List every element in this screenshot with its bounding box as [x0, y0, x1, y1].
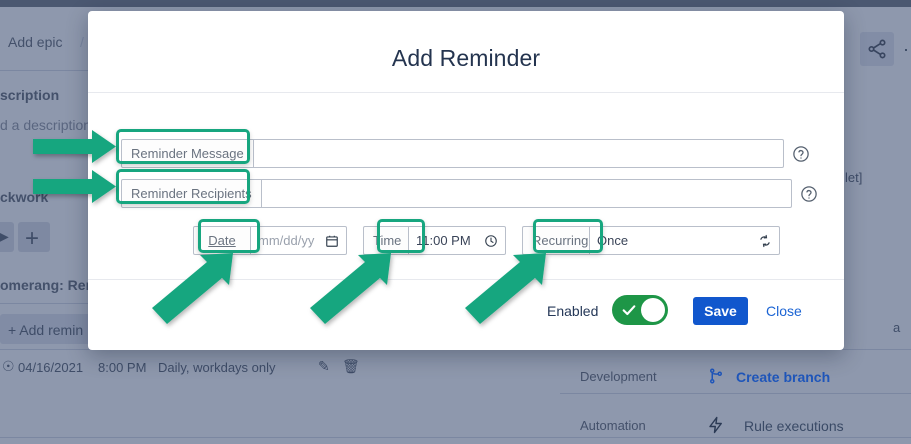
calendar-icon[interactable] [325, 234, 339, 248]
time-value: 11:00 PM [416, 233, 471, 248]
dialog-footer: Enabled Save Close [88, 279, 844, 350]
label-recurring: Recurring [522, 226, 590, 255]
check-icon [621, 302, 637, 318]
field-row-reminder-message: Reminder Message [121, 139, 810, 168]
time-input[interactable]: 11:00 PM [409, 226, 506, 255]
clock-icon[interactable] [484, 234, 498, 248]
stray-text-fragment: a [893, 320, 900, 335]
add-reminder-dialog: Add Reminder Reminder Message Reminder R… [88, 11, 844, 350]
detail-link-create-branch[interactable]: Create branch [736, 369, 830, 385]
time-field-group: Time 11:00 PM [363, 226, 506, 255]
detail-label-development: Development [580, 369, 657, 384]
repeat-icon[interactable] [758, 234, 772, 248]
date-field-group: Date mm/dd/yy [193, 226, 347, 255]
date-input[interactable]: mm/dd/yy [251, 226, 347, 255]
dialog-title: Add Reminder [88, 45, 844, 72]
enabled-label: Enabled [547, 303, 598, 319]
plus-icon: + [25, 227, 39, 251]
share-icon [866, 38, 888, 60]
description-placeholder[interactable]: d a description. [0, 117, 95, 133]
field-row-schedule: Date mm/dd/yy Time 11:00 PM [193, 226, 780, 255]
lightning-icon [707, 415, 725, 435]
reminder-row-recurrence: Daily, workdays only [158, 360, 276, 375]
reminder-status-icon: ☉ [2, 359, 15, 373]
close-button[interactable]: Close [766, 303, 802, 319]
pencil-icon[interactable]: ✎ [318, 359, 330, 373]
play-icon: ▶ [0, 229, 9, 243]
label-time: Time [363, 226, 409, 255]
dialog-header: Add Reminder [88, 11, 844, 93]
field-row-reminder-recipients: Reminder Recipients [121, 179, 818, 208]
trash-icon[interactable]: 🗑 [342, 359, 360, 373]
reminder-message-input[interactable] [254, 139, 784, 168]
recurring-value: Once [597, 233, 628, 248]
recurring-field-group: Recurring Once [522, 226, 780, 255]
branch-icon [707, 367, 725, 385]
more-options-icon[interactable]: ⋯ [903, 40, 911, 61]
divider [0, 437, 911, 438]
question-circle-icon[interactable] [800, 185, 818, 203]
label-date: Date [193, 226, 251, 255]
reminder-row-time: 8:00 PM [98, 360, 146, 375]
reminder-recipients-input[interactable] [262, 179, 792, 208]
add-reminder-button[interactable]: + Add remin [8, 322, 83, 338]
divider [560, 393, 911, 394]
question-circle-icon[interactable] [792, 145, 810, 163]
description-heading: scription [0, 87, 59, 103]
screenshot-root: Add epic / scription d a description. ▶ … [0, 0, 911, 444]
date-placeholder: mm/dd/yy [258, 233, 314, 248]
bracket-text-fragment: let] [845, 170, 862, 185]
label-reminder-recipients: Reminder Recipients [121, 179, 262, 208]
detail-link-rule-executions[interactable]: Rule executions [744, 418, 844, 434]
browser-top-strip [0, 0, 911, 7]
enabled-toggle[interactable] [612, 295, 668, 325]
recurring-select[interactable]: Once [590, 226, 780, 255]
boomerang-heading: omerang: Remi [0, 277, 102, 293]
clockwork-heading: ckwork [0, 189, 48, 205]
breadcrumb-add-epic[interactable]: Add epic [8, 34, 62, 50]
toggle-knob [641, 298, 665, 322]
label-date-text: Date [208, 233, 235, 248]
dialog-body: Reminder Message Reminder Recipients [88, 94, 844, 279]
save-button[interactable]: Save [693, 297, 748, 325]
detail-label-automation: Automation [580, 418, 646, 433]
reminder-row-date: 04/16/2021 [18, 360, 83, 375]
breadcrumb-separator: / [80, 34, 84, 50]
label-reminder-message: Reminder Message [121, 139, 254, 168]
